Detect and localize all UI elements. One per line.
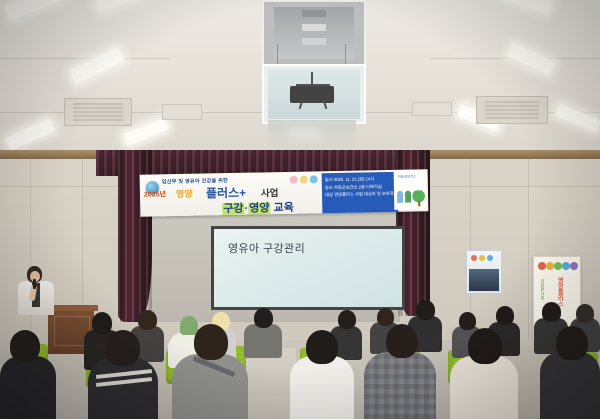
standing-banner-side-text: 건강한 가족 <box>540 279 544 300</box>
event-banner: 임산부 및 영유아 건강을 위한 2025년 영양 플러스+ 사업 구강·영양 … <box>140 169 429 217</box>
banner-subtitle-nutrition: 영양 <box>248 202 270 214</box>
poster-dot-icon <box>570 262 578 270</box>
poster-dot-icon <box>487 255 493 261</box>
wall-seam <box>528 150 529 350</box>
projector-plate <box>302 38 326 45</box>
audience-head <box>459 312 476 330</box>
ceiling-light <box>5 0 65 20</box>
banner-tree-trunk-icon <box>418 201 420 206</box>
audience-body <box>290 356 354 419</box>
banner-business-word: 사업 <box>261 185 279 199</box>
wall-poster-left <box>466 250 502 294</box>
audience-head <box>10 330 40 362</box>
poster-dot-icon <box>538 262 546 270</box>
banner-org-name: 하동군보건소 <box>398 173 417 178</box>
banner-year: 2025년 <box>144 189 166 199</box>
ceiling-light <box>555 104 600 132</box>
lecture-hall-photo: 임산부 및 영유아 건강을 위한 2025년 영양 플러스+ 사업 구강·영양 … <box>0 0 600 419</box>
audience-body <box>450 356 518 419</box>
banner-nutrition-word: 영양 <box>176 187 193 200</box>
banner-dot-row <box>538 262 576 271</box>
audience-head <box>377 308 394 326</box>
ceiling-light <box>507 43 555 74</box>
banner-subtitle-education: 교육 <box>273 202 293 214</box>
banner-info-target: 대상 영양플러스 사업 대상자 및 보호자 <box>325 190 395 199</box>
projector-plate <box>302 10 326 17</box>
banner-illustration: 하동군보건소 <box>394 171 427 210</box>
ceiling <box>0 0 600 152</box>
projector-light-cone <box>268 120 356 152</box>
poster-dot-icon <box>471 255 477 261</box>
slide-title: 영유아 구강관리 <box>228 240 305 256</box>
audience-head <box>576 304 594 323</box>
audience-head <box>92 312 112 334</box>
ceiling-access-panel <box>412 102 452 116</box>
audience-head <box>496 306 514 325</box>
audience-head <box>542 302 561 322</box>
ceiling-light <box>499 0 553 14</box>
audience-head <box>386 324 418 358</box>
projector-device <box>290 86 334 103</box>
audience-body-plaid <box>364 352 436 419</box>
standing-banner-title: 영양플러스 <box>556 277 562 307</box>
banner-info-box: 일시 2025. 11. 21.(금) 14시 장소 하동군보건소 2층 다목적… <box>322 172 399 215</box>
ceiling-light <box>95 0 141 11</box>
projector-plate <box>302 24 326 31</box>
poster-dot-icon <box>562 262 570 270</box>
audience-head <box>556 326 588 360</box>
ceiling-access-panel <box>162 104 202 120</box>
ceiling-seam <box>0 58 170 59</box>
ceiling-light <box>69 47 124 84</box>
audience-head <box>254 308 273 328</box>
banner-figure-icon <box>397 191 403 203</box>
audience-body <box>244 324 282 358</box>
ac-grille <box>73 103 123 121</box>
audience-head <box>138 310 157 330</box>
poster-dot-icon <box>554 262 562 270</box>
audience-head <box>468 328 502 364</box>
ac-vent <box>476 96 548 124</box>
banner-figure-icon <box>405 191 411 203</box>
audience-head <box>194 324 228 360</box>
audience-head <box>306 330 338 364</box>
poster-photo <box>469 269 499 291</box>
microphone-icon <box>33 279 36 289</box>
banner-subtitle: 구강·영양 교육 <box>222 199 294 216</box>
audience-body <box>0 356 56 419</box>
banner-subtitle-oral: 구강 <box>222 203 244 215</box>
audience-body <box>540 352 600 419</box>
audience-head <box>338 310 356 329</box>
audience-head <box>106 330 140 366</box>
poster-dot-icon <box>479 255 485 261</box>
ac-vent <box>64 98 132 126</box>
ceiling-light <box>5 119 54 150</box>
wall-seam <box>30 150 31 350</box>
audience-head <box>416 300 435 320</box>
audience-body <box>88 358 158 419</box>
poster-dot-icon <box>546 262 554 270</box>
ac-grille <box>485 101 538 119</box>
